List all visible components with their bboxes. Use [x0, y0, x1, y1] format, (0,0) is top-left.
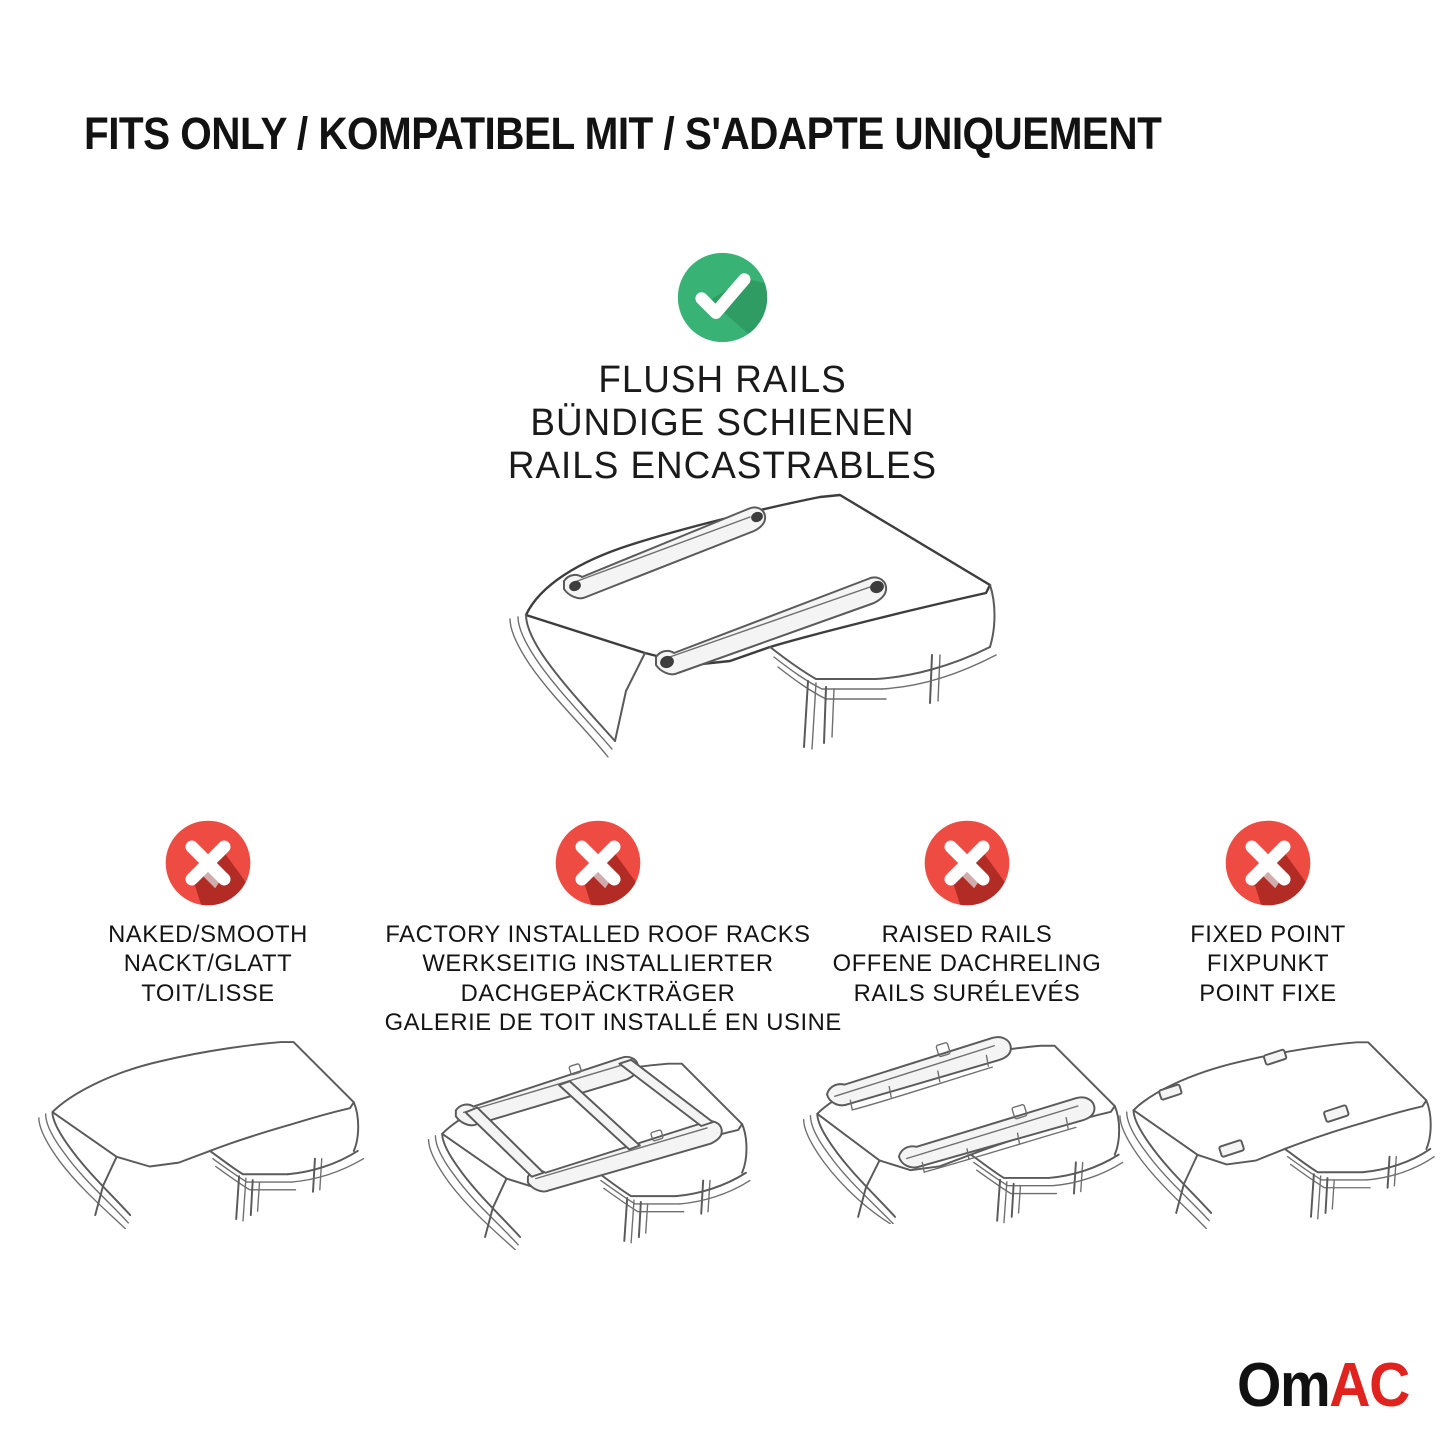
label-line: FIXED POINT	[1123, 920, 1414, 949]
label-line: FACTORY INSTALLED ROOF RACKS	[385, 920, 812, 949]
car-roof-factory-racks-illustration	[378, 1040, 818, 1250]
car-roof-flush-rails-illustration	[430, 465, 1050, 785]
label-line: POINT FIXE	[1123, 979, 1414, 1008]
omac-logo: OmAC	[1237, 1355, 1409, 1417]
compatible-section: FLUSH RAILS BÜNDIGE SCHIENEN RAILS ENCAS…	[0, 250, 1445, 488]
incompatible-item-factory-roof-racks: FACTORY INSTALLED ROOF RACKS WERKSEITIG …	[378, 818, 818, 1250]
x-circle-icon	[553, 818, 643, 908]
label-line: RAISED RAILS	[792, 920, 1141, 949]
check-circle-icon	[675, 250, 770, 345]
x-circle-icon	[922, 818, 1012, 908]
page-title: FITS ONLY / KOMPATIBEL MIT / S'ADAPTE UN…	[84, 108, 1161, 160]
infographic-page: FITS ONLY / KOMPATIBEL MIT / S'ADAPTE UN…	[0, 0, 1445, 1445]
incompatible-item-naked-smooth: NAKED/SMOOTH NACKT/GLATT TOIT/LISSE	[8, 818, 408, 1229]
car-roof-raised-rails-illustration	[787, 1024, 1147, 1224]
incompatible-label-factory-roof-racks: FACTORY INSTALLED ROOF RACKS WERKSEITIG …	[385, 920, 812, 1038]
label-line: TOIT/LISSE	[14, 979, 402, 1008]
compatible-label-de: BÜNDIGE SCHIENEN	[22, 402, 1424, 445]
incompatible-item-raised-rails: RAISED RAILS OFFENE DACHRELING RAILS SUR…	[787, 818, 1147, 1224]
car-roof-naked-illustration	[8, 1034, 408, 1229]
label-line: OFFENE DACHRELING	[792, 949, 1141, 978]
incompatible-section: NAKED/SMOOTH NACKT/GLATT TOIT/LISSE	[0, 818, 1445, 1298]
label-line: GALERIE DE TOIT INSTALLÉ EN USINE	[385, 1008, 812, 1037]
car-roof-fixed-point-illustration	[1118, 1034, 1418, 1229]
incompatible-item-fixed-point: FIXED POINT FIXPUNKT POINT FIXE	[1118, 818, 1418, 1229]
label-line: WERKSEITIG INSTALLIERTER	[385, 949, 812, 978]
incompatible-label-naked-smooth: NAKED/SMOOTH NACKT/GLATT TOIT/LISSE	[14, 920, 402, 1008]
label-line: DACHGEPÄCKTRÄGER	[385, 979, 812, 1008]
label-line: NAKED/SMOOTH	[14, 920, 402, 949]
x-circle-icon	[1223, 818, 1313, 908]
label-line: FIXPUNKT	[1123, 949, 1414, 978]
incompatible-label-fixed-point: FIXED POINT FIXPUNKT POINT FIXE	[1123, 920, 1414, 1008]
x-circle-icon	[163, 818, 253, 908]
omac-logo-dark: Om	[1237, 1351, 1329, 1420]
label-line: NACKT/GLATT	[14, 949, 402, 978]
incompatible-label-raised-rails: RAISED RAILS OFFENE DACHRELING RAILS SUR…	[792, 920, 1141, 1008]
compatible-label-en: FLUSH RAILS	[22, 359, 1424, 402]
label-line: RAILS SURÉLEVÉS	[792, 979, 1141, 1008]
omac-logo-red: AC	[1329, 1351, 1409, 1420]
